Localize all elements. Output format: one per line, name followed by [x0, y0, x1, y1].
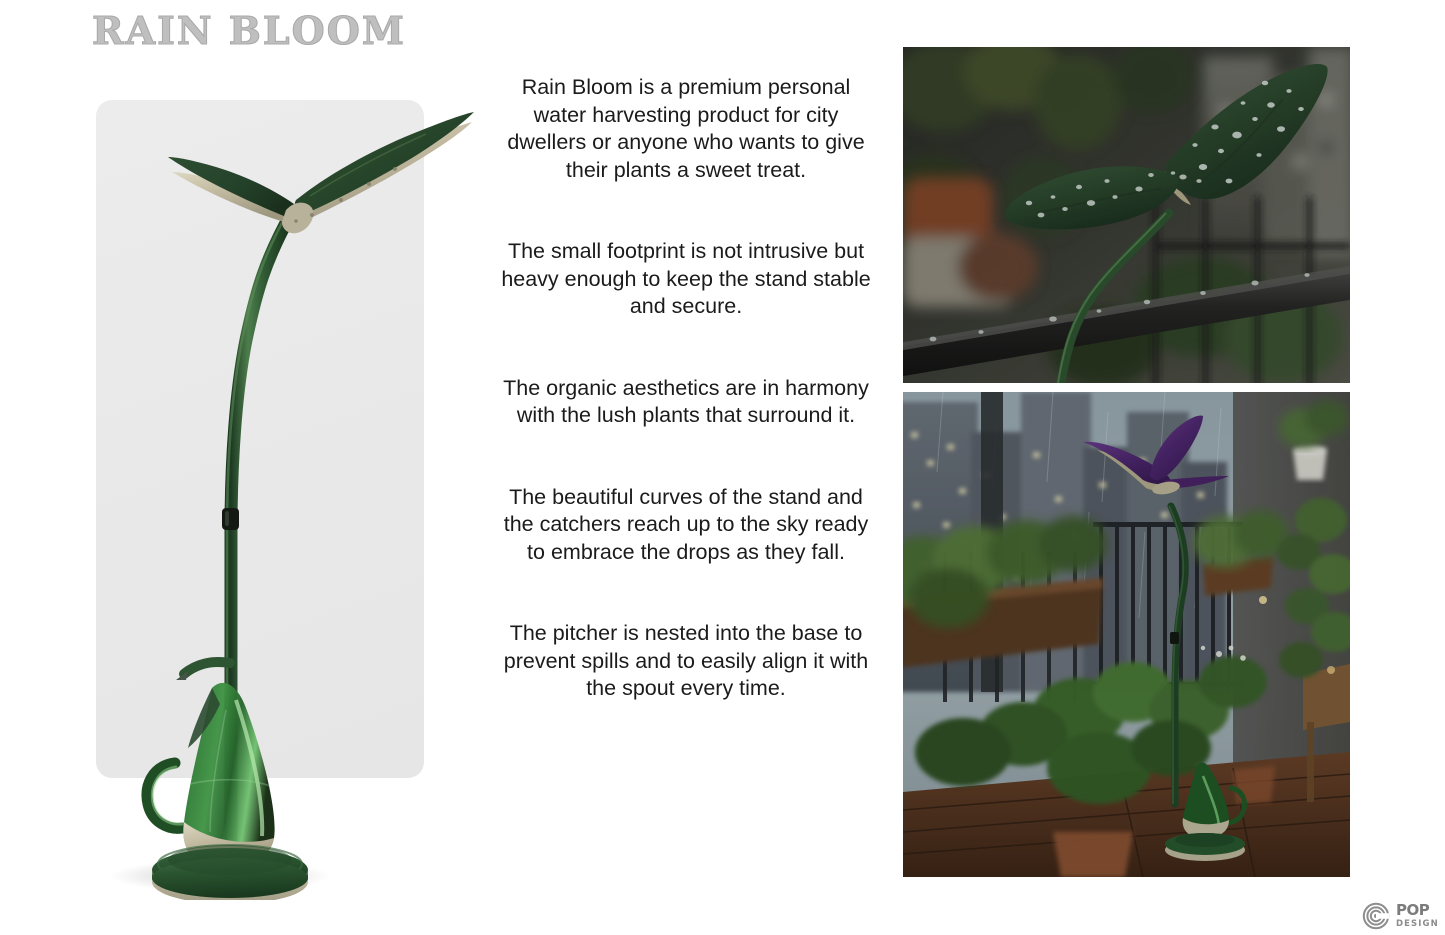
copy-paragraph-2: The small footprint is not intrusive but…	[500, 238, 872, 321]
photo-leaf-closeup-art	[903, 47, 1350, 383]
photo-full-stand-balcony	[903, 392, 1350, 877]
page-title: RAIN BLOOM	[92, 12, 406, 50]
description-column: Rain Bloom is a premium personal water h…	[500, 74, 872, 703]
concentric-spiral-icon	[1362, 902, 1390, 930]
photo-full-stand-art	[903, 392, 1350, 877]
photo-leaf-closeup-balcony	[903, 47, 1350, 383]
copy-paragraph-3: The organic aesthetics are in harmony wi…	[500, 375, 872, 430]
product-render	[60, 60, 480, 900]
logo-secondary-text: DESIGN	[1396, 920, 1439, 929]
copy-paragraph-5: The pitcher is nested into the base to p…	[500, 620, 872, 703]
slide-root: RAIN BLOOM	[0, 0, 1445, 935]
copy-paragraph-1: Rain Bloom is a premium personal water h…	[500, 74, 872, 184]
pop-design-logo: POP DESIGN	[1362, 900, 1440, 932]
copy-paragraph-4: The beautiful curves of the stand and th…	[500, 484, 872, 567]
logo-wordmark: POP DESIGN	[1396, 903, 1439, 929]
rain-bloom-product-illustration	[60, 60, 480, 900]
logo-primary-text: POP	[1396, 903, 1439, 918]
